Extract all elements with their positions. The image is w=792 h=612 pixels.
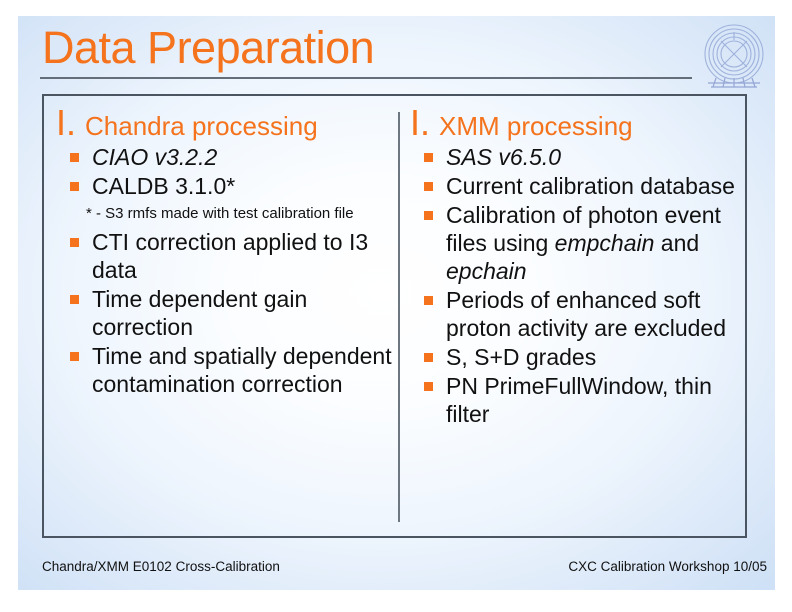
list-item-label: SAS v6.5.0 <box>446 144 561 170</box>
list-item: Periods of enhanced soft proton activity… <box>410 286 748 342</box>
bullet-square-icon <box>424 296 433 305</box>
column-xmm: I. XMM processing SAS v6.5.0 Current cal… <box>410 106 748 429</box>
bullet-square-icon <box>70 153 79 162</box>
column-chandra: I. Chandra processing CIAO v3.2.2 CALDB … <box>56 106 396 399</box>
bullet-square-icon <box>70 352 79 361</box>
bullet-square-icon <box>70 238 79 247</box>
list-item-label: Periods of enhanced soft proton activity… <box>446 287 726 341</box>
footnote-caldb: * - S3 rmfs made with test calibration f… <box>86 204 366 223</box>
column-divider <box>398 112 400 522</box>
list-item: Time and spatially dependent contaminati… <box>56 342 396 398</box>
bullet-square-icon <box>424 153 433 162</box>
column-heading-text: XMM processing <box>439 111 633 141</box>
bullet-square-icon <box>424 211 433 220</box>
list-item-label: Time dependent gain correction <box>92 286 307 340</box>
bullet-square-icon <box>70 295 79 304</box>
list-item: PN PrimeFullWindow, thin filter <box>410 372 748 428</box>
title-block: Data Preparation <box>42 22 702 74</box>
list-item-label: CIAO v3.2.2 <box>92 144 217 170</box>
bullet-square-icon <box>424 182 433 191</box>
column-heading-xmm: I. XMM processing <box>410 106 748 141</box>
list-item-label: CTI correction applied to I3 data <box>92 229 368 283</box>
bullet-list-xmm: SAS v6.5.0 Current calibration database … <box>410 143 748 428</box>
bullet-square-icon <box>424 382 433 391</box>
list-item-label: Time and spatially dependent contaminati… <box>92 343 392 397</box>
list-item: Time dependent gain correction <box>56 285 396 341</box>
list-item: Current calibration database <box>410 172 748 200</box>
footer-left-text: Chandra/XMM E0102 Cross-Calibration <box>42 559 280 574</box>
footer-right-text: CXC Calibration Workshop 10/05 <box>568 559 767 574</box>
list-item-label: CALDB 3.1.0* <box>92 173 235 199</box>
bullet-list-chandra-cont: CTI correction applied to I3 data Time d… <box>56 228 396 398</box>
list-item-label: S, S+D grades <box>446 344 596 370</box>
list-item: CIAO v3.2.2 <box>56 143 396 171</box>
column-numeral: I. <box>56 106 76 140</box>
bullet-list-chandra: CIAO v3.2.2 CALDB 3.1.0* <box>56 143 396 200</box>
list-item: S, S+D grades <box>410 343 748 371</box>
list-item-label: Current calibration database <box>446 173 735 199</box>
column-heading-chandra: I. Chandra processing <box>56 106 396 141</box>
observatory-dome-icon <box>696 20 772 96</box>
column-heading-text: Chandra processing <box>85 111 318 141</box>
list-item-label: Calibration of photon event files using … <box>446 202 721 284</box>
list-item: SAS v6.5.0 <box>410 143 748 171</box>
page-title: Data Preparation <box>42 22 702 74</box>
title-underline-rule <box>40 77 692 79</box>
bullet-square-icon <box>70 182 79 191</box>
bullet-square-icon <box>424 353 433 362</box>
slide-canvas: Data Preparation <box>18 16 775 590</box>
column-numeral: I. <box>410 106 430 140</box>
list-item: CALDB 3.1.0* <box>56 172 396 200</box>
list-item: Calibration of photon event files using … <box>410 201 748 285</box>
list-item-label: PN PrimeFullWindow, thin filter <box>446 373 712 427</box>
list-item: CTI correction applied to I3 data <box>56 228 396 284</box>
